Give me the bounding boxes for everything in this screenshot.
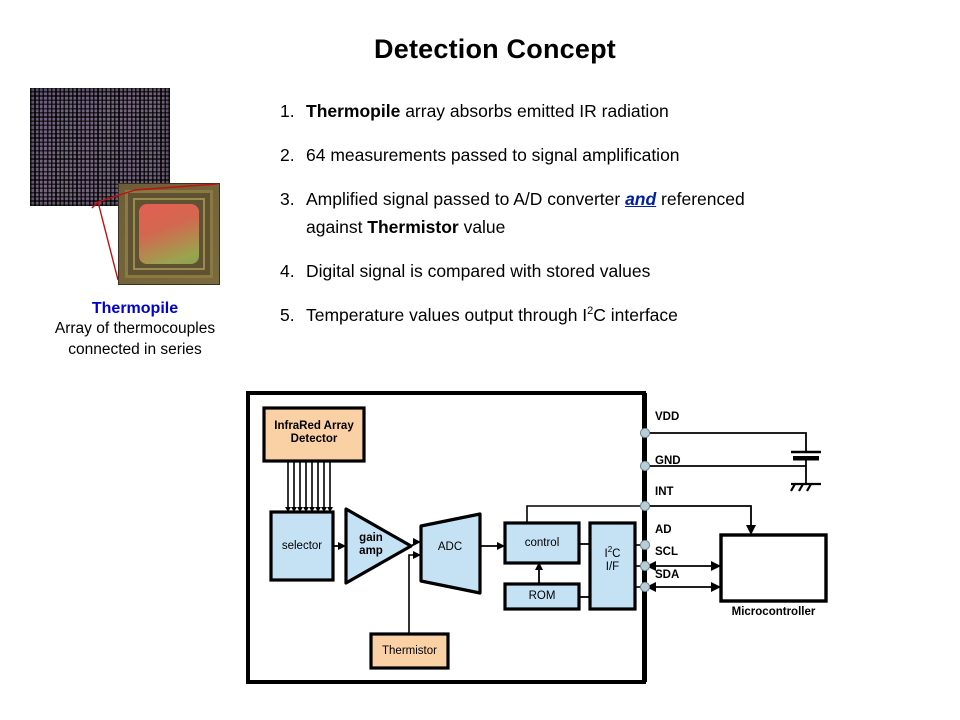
pin-label-scl: SCL [655, 546, 678, 558]
thermistor-block [371, 634, 448, 668]
ground-symbol [791, 484, 821, 491]
control-block [505, 523, 579, 563]
pin-node-gnd [640, 461, 649, 470]
detector-bus-lines [288, 461, 330, 510]
pin-label-int: INT [655, 486, 674, 498]
microcontroller-block [721, 535, 826, 601]
pin-label-vdd: VDD [655, 411, 679, 423]
thermistor-to-adc-wire [409, 555, 418, 634]
pin-node-int [640, 501, 649, 510]
pin-node-scl [640, 561, 649, 570]
microcontroller-label: Microcontroller [721, 606, 826, 618]
pin-node-ad [640, 540, 649, 549]
vdd-net-wire [645, 433, 806, 452]
selector-block [271, 512, 333, 580]
infrared-array-detector-block [264, 408, 364, 461]
pin-label-ad: AD [655, 524, 672, 536]
pin-node-vdd [640, 428, 649, 437]
gain-amp-block [346, 509, 411, 583]
pin-node-sda [640, 582, 649, 591]
capacitor-plate-bottom [793, 456, 819, 461]
rom-block [505, 584, 579, 609]
pin-label-gnd: GND [655, 455, 681, 467]
adc-block [421, 514, 480, 593]
pin-label-sda: SDA [655, 569, 679, 581]
i2c-interface-block [590, 523, 635, 609]
control-to-int-wire [527, 506, 645, 523]
